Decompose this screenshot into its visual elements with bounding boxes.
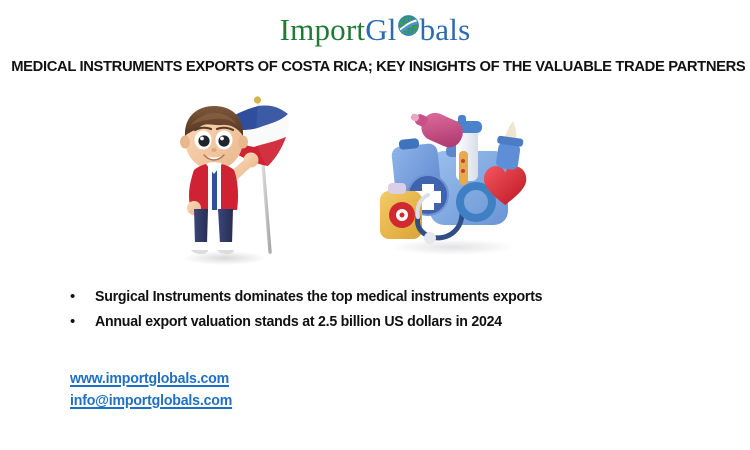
bullet-marker: • <box>70 311 95 332</box>
contact-links: www.importglobals.com info@importglobals… <box>70 368 237 412</box>
logo-text-gl: Gl <box>365 12 396 47</box>
boy-with-flag-illustration <box>162 92 312 267</box>
logo-text-import: Import <box>280 12 366 47</box>
medical-instruments-illustration <box>358 95 543 260</box>
insights-list: • Surgical Instruments dominates the top… <box>70 286 730 336</box>
globe-icon <box>397 14 420 37</box>
illustration-row <box>0 92 750 267</box>
bullet-marker: • <box>70 286 95 307</box>
list-item-label: Annual export valuation stands at 2.5 bi… <box>95 312 502 333</box>
website-link[interactable]: www.importglobals.com <box>70 368 232 390</box>
list-item: • Annual export valuation stands at 2.5 … <box>70 311 730 333</box>
page-title: MEDICAL INSTRUMENTS EXPORTS OF COSTA RIC… <box>11 58 739 75</box>
list-item: • Surgical Instruments dominates the top… <box>70 286 730 308</box>
logo-text-bals: bals <box>420 12 471 47</box>
list-item-label: Surgical Instruments dominates the top m… <box>95 287 542 308</box>
email-link[interactable]: info@importglobals.com <box>70 390 232 412</box>
brand-logo[interactable]: ImportGl bals <box>0 12 750 48</box>
infographic-canvas: ImportGl bals MEDICAL INSTRUMENTS EXPORT… <box>0 0 750 450</box>
